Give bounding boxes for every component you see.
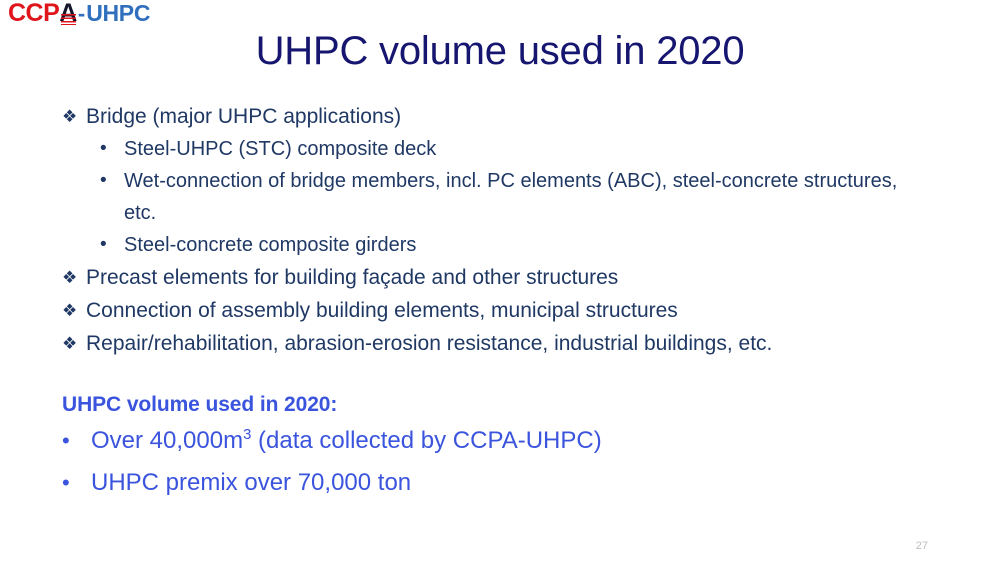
list-item-text: Connection of assembly building elements… bbox=[86, 294, 1000, 327]
summary-item-text: UHPC premix over 70,000 ton bbox=[91, 462, 1000, 504]
diamond-bullet-icon: ❖ bbox=[62, 327, 86, 360]
diamond-bullet-icon: ❖ bbox=[62, 261, 86, 294]
summary-item-text-before: UHPC premix over 70,000 ton bbox=[91, 469, 411, 496]
dot-bullet-icon: • bbox=[100, 133, 124, 165]
list-item-text: Steel-UHPC (STC) composite deck bbox=[124, 133, 914, 165]
logo-dash: - bbox=[77, 3, 86, 25]
list-item: • Steel-concrete composite girders bbox=[0, 229, 1000, 261]
summary-block: UHPC volume used in 2020: • Over 40,000m… bbox=[0, 390, 1000, 504]
diamond-bullet-icon: ❖ bbox=[62, 294, 86, 327]
summary-item-text: Over 40,000m3 (data collected by CCPA-UH… bbox=[91, 420, 1000, 462]
list-item-text: Bridge (major UHPC applications) bbox=[86, 100, 1000, 133]
logo-text-uhpc: UHPC bbox=[86, 2, 150, 25]
dot-bullet-icon: • bbox=[100, 229, 124, 261]
summary-heading: UHPC volume used in 2020: bbox=[0, 390, 1000, 420]
list-item: ❖ Repair/rehabilitation, abrasion-erosio… bbox=[0, 327, 1000, 360]
bullet-list: ❖ Bridge (major UHPC applications) • Ste… bbox=[0, 100, 1000, 360]
summary-item-text-after: (data collected by CCPA-UHPC) bbox=[251, 427, 601, 454]
list-item-text: Precast elements for building façade and… bbox=[86, 261, 1000, 294]
logo-letter-a-flag: A bbox=[59, 1, 77, 26]
list-item: • Steel-UHPC (STC) composite deck bbox=[0, 133, 1000, 165]
summary-item-text-before: Over 40,000m bbox=[91, 427, 243, 454]
logo-letter-a: A bbox=[59, 0, 77, 27]
list-item-text: Repair/rehabilitation, abrasion-erosion … bbox=[86, 327, 1000, 360]
list-item: ❖ Connection of assembly building elemen… bbox=[0, 294, 1000, 327]
ccpa-uhpc-logo: CCPA-UHPC bbox=[8, 1, 150, 26]
list-item: ❖ Bridge (major UHPC applications) bbox=[0, 100, 1000, 133]
list-item-text: Steel-concrete composite girders bbox=[124, 229, 914, 261]
page-number: 27 bbox=[916, 540, 928, 552]
page-title: UHPC volume used in 2020 bbox=[0, 27, 1000, 75]
summary-item: • Over 40,000m3 (data collected by CCPA-… bbox=[0, 420, 1000, 462]
list-item-text: Wet-connection of bridge members, incl. … bbox=[124, 165, 914, 229]
diamond-bullet-icon: ❖ bbox=[62, 100, 86, 133]
dot-bullet-icon: • bbox=[62, 462, 91, 504]
summary-item: • UHPC premix over 70,000 ton bbox=[0, 462, 1000, 504]
dot-bullet-icon: • bbox=[62, 420, 91, 462]
dot-bullet-icon: • bbox=[100, 165, 124, 197]
logo-text-ccp: CCP bbox=[8, 1, 59, 26]
list-item: ❖ Precast elements for building façade a… bbox=[0, 261, 1000, 294]
list-item: • Wet-connection of bridge members, incl… bbox=[0, 165, 1000, 229]
